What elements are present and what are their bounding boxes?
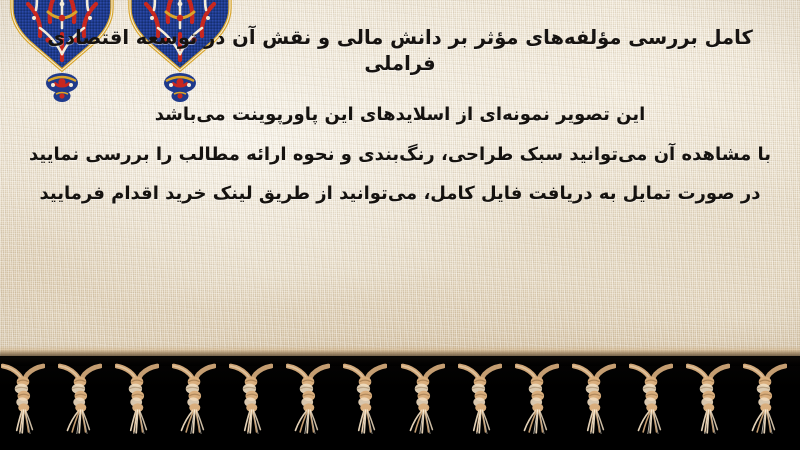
tassel-knot	[172, 356, 216, 442]
body-line-2: با مشاهده آن می‌توانید سبک طراحی، رنگ‌بن…	[18, 146, 782, 164]
powerpoint-slide-preview: کامل بررسی مؤلفه‌های مؤثر بر دانش مالی و…	[0, 0, 800, 450]
slide-body: این تصویر نمونه‌ای از اسلایدهای این پاور…	[0, 106, 800, 203]
tassel-knot	[629, 356, 673, 442]
tassel-knot	[229, 356, 273, 442]
tassel-knot	[743, 356, 787, 442]
page-title: کامل بررسی مؤلفه‌های مؤثر بر دانش مالی و…	[0, 25, 800, 77]
tassel-knot	[343, 356, 387, 442]
bottom-black-band	[0, 356, 800, 450]
knotted-tassel-fringe	[0, 356, 800, 450]
body-line-1: این تصویر نمونه‌ای از اسلایدهای این پاور…	[18, 106, 782, 124]
tassel-knot	[1, 356, 45, 442]
body-line-3: در صورت تمایل به دریافت فایل کامل، می‌تو…	[18, 185, 782, 203]
tassel-knot	[515, 356, 559, 442]
tassel-knot	[401, 356, 445, 442]
tassel-knot	[458, 356, 502, 442]
tassel-knot	[58, 356, 102, 442]
tassel-knot	[286, 356, 330, 442]
tassel-knot	[572, 356, 616, 442]
tassel-knot	[686, 356, 730, 442]
tassel-knot	[115, 356, 159, 442]
